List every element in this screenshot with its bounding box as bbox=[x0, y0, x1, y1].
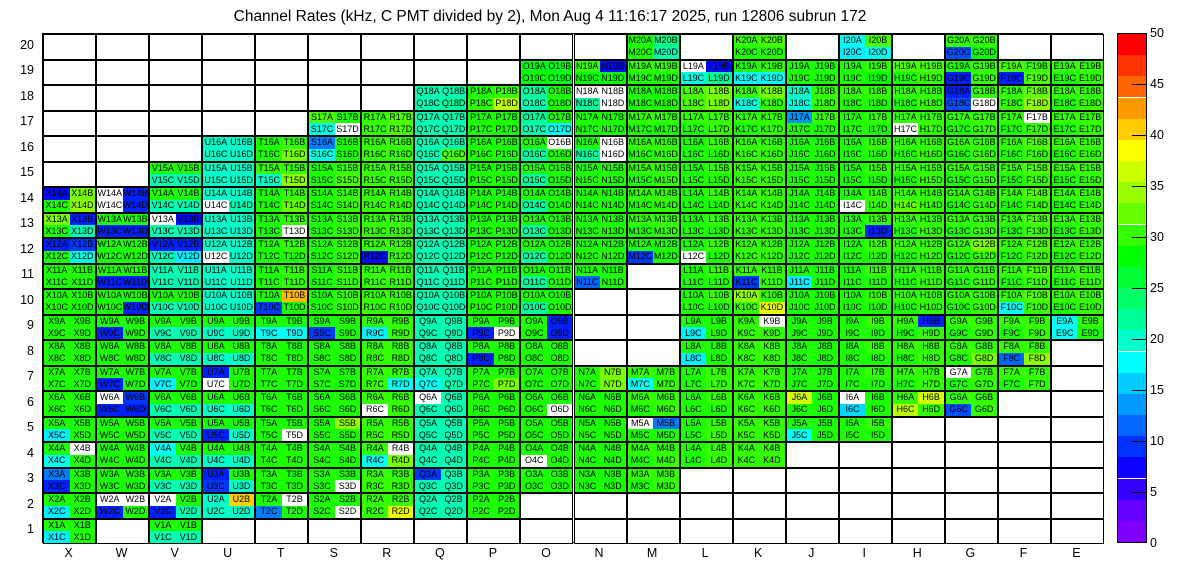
heatmap-channel-Q6D[interactable]: Q6D bbox=[441, 404, 467, 416]
heatmap-cell-Q4[interactable]: Q4AQ4BQ4CQ4D bbox=[414, 442, 467, 468]
heatmap-channel-P16B[interactable]: P16B bbox=[494, 137, 520, 149]
heatmap-cell-V15[interactable]: V15AV15BV15CV15D bbox=[149, 162, 202, 188]
heatmap-channel-Q9C[interactable]: Q9C bbox=[415, 327, 441, 339]
heatmap-cell-G20[interactable]: G20AG20BG20CG20D bbox=[945, 34, 998, 60]
heatmap-channel-W8D[interactable]: W8D bbox=[123, 353, 149, 365]
heatmap-cell-U7[interactable]: U7AU7BU7CU7D bbox=[202, 366, 255, 392]
heatmap-channel-E11D[interactable]: E11D bbox=[1077, 276, 1103, 288]
heatmap-channel-R9A[interactable]: R9A bbox=[362, 316, 388, 328]
heatmap-channel-K13B[interactable]: K13B bbox=[759, 214, 785, 226]
heatmap-channel-H16D[interactable]: H16D bbox=[918, 149, 944, 161]
heatmap-cell-P3[interactable]: P3AP3BP3CP3D bbox=[467, 468, 520, 494]
heatmap-channel-O11A[interactable]: O11A bbox=[521, 265, 547, 277]
heatmap-channel-V2B[interactable]: V2B bbox=[176, 494, 202, 506]
heatmap-channel-Q10A[interactable]: Q10A bbox=[415, 290, 441, 302]
heatmap-cell-W10[interactable]: W10AW10BW10CW10D bbox=[96, 289, 149, 315]
heatmap-cell-T4[interactable]: T4AT4BT4CT4D bbox=[255, 442, 308, 468]
heatmap-channel-P5B[interactable]: P5B bbox=[494, 418, 520, 430]
heatmap-channel-H14B[interactable]: H14B bbox=[918, 188, 944, 200]
heatmap-cell-K15[interactable]: K15AK15BK15CK15D bbox=[733, 162, 786, 188]
heatmap-channel-J13D[interactable]: J13D bbox=[812, 225, 838, 237]
heatmap-channel-I8C[interactable]: I8C bbox=[840, 353, 866, 365]
heatmap-channel-K14D[interactable]: K14D bbox=[759, 200, 785, 212]
heatmap-channel-P8D[interactable]: P8D bbox=[494, 353, 520, 365]
heatmap-channel-P3C[interactable]: P3C bbox=[468, 480, 494, 492]
heatmap-channel-I7B[interactable]: I7B bbox=[865, 367, 891, 379]
heatmap-channel-W12A[interactable]: W12A bbox=[97, 239, 123, 251]
heatmap-channel-M15B[interactable]: M15B bbox=[653, 163, 679, 175]
heatmap-channel-O17C[interactable]: O17C bbox=[521, 123, 547, 135]
heatmap-channel-O16C[interactable]: O16C bbox=[521, 149, 547, 161]
heatmap-channel-Q4C[interactable]: Q4C bbox=[415, 455, 441, 467]
heatmap-channel-V12A[interactable]: V12A bbox=[150, 239, 176, 251]
heatmap-channel-G15D[interactable]: G15D bbox=[971, 174, 997, 186]
heatmap-channel-F18B[interactable]: F18B bbox=[1024, 86, 1050, 98]
heatmap-channel-P8A[interactable]: P8A bbox=[468, 341, 494, 353]
heatmap-channel-P2D[interactable]: P2D bbox=[494, 506, 520, 518]
heatmap-cell-L19[interactable]: L19AL19BL19CL19D bbox=[680, 60, 733, 86]
heatmap-channel-F16A[interactable]: F16A bbox=[999, 137, 1025, 149]
heatmap-channel-L8D[interactable]: L8D bbox=[706, 353, 732, 365]
heatmap-channel-N14D[interactable]: N14D bbox=[600, 200, 626, 212]
heatmap-channel-H9B[interactable]: H9B bbox=[918, 316, 944, 328]
heatmap-cell-F13[interactable]: F13AF13BF13CF13D bbox=[998, 213, 1051, 239]
heatmap-channel-O10C[interactable]: O10C bbox=[521, 302, 547, 314]
heatmap-channel-V10B[interactable]: V10B bbox=[176, 290, 202, 302]
heatmap-channel-K7A[interactable]: K7A bbox=[734, 367, 760, 379]
heatmap-channel-E13D[interactable]: E13D bbox=[1077, 225, 1103, 237]
heatmap-cell-U2[interactable]: U2AU2BU2CU2D bbox=[202, 493, 255, 519]
heatmap-cell-P14[interactable]: P14AP14BP14CP14D bbox=[467, 187, 520, 213]
heatmap-channel-P13A[interactable]: P13A bbox=[468, 214, 494, 226]
heatmap-channel-N14A[interactable]: N14A bbox=[575, 188, 601, 200]
heatmap-channel-W13A[interactable]: W13A bbox=[97, 214, 123, 226]
heatmap-channel-I9B[interactable]: I9B bbox=[865, 316, 891, 328]
heatmap-channel-N14B[interactable]: N14B bbox=[600, 188, 626, 200]
heatmap-channel-T13D[interactable]: T13D bbox=[282, 225, 308, 237]
heatmap-cell-I9[interactable]: I9AI9BI9CI9D bbox=[839, 315, 892, 341]
heatmap-cell-G9[interactable]: G9AG9BG9CG9D bbox=[945, 315, 998, 341]
heatmap-channel-U2A[interactable]: U2A bbox=[203, 494, 229, 506]
heatmap-channel-S8A[interactable]: S8A bbox=[309, 341, 335, 353]
heatmap-channel-V5C[interactable]: V5C bbox=[150, 429, 176, 441]
heatmap-cell-V14[interactable]: V14AV14BV14CV14D bbox=[149, 187, 202, 213]
heatmap-channel-V4B[interactable]: V4B bbox=[176, 443, 202, 455]
heatmap-channel-R13D[interactable]: R13D bbox=[388, 225, 414, 237]
heatmap-channel-K7B[interactable]: K7B bbox=[759, 367, 785, 379]
heatmap-cell-E12[interactable]: E12AE12BE12CE12D bbox=[1051, 238, 1104, 264]
heatmap-channel-U14A[interactable]: U14A bbox=[203, 188, 229, 200]
heatmap-channel-V14D[interactable]: V14D bbox=[176, 200, 202, 212]
heatmap-channel-P10C[interactable]: P10C bbox=[468, 302, 494, 314]
heatmap-channel-N17A[interactable]: N17A bbox=[575, 112, 601, 124]
heatmap-channel-M13B[interactable]: M13B bbox=[653, 214, 679, 226]
heatmap-channel-L12B[interactable]: L12B bbox=[706, 239, 732, 251]
heatmap-channel-H16A[interactable]: H16A bbox=[893, 137, 919, 149]
heatmap-channel-I14C[interactable]: I14C bbox=[840, 200, 866, 212]
heatmap-cell-J9[interactable]: J9AJ9BJ9CJ9D bbox=[786, 315, 839, 341]
heatmap-channel-G9C[interactable]: G9C bbox=[946, 327, 972, 339]
heatmap-channel-L18D[interactable]: L18D bbox=[706, 98, 732, 110]
heatmap-channel-J6B[interactable]: J6B bbox=[812, 392, 838, 404]
heatmap-channel-K8D[interactable]: K8D bbox=[759, 353, 785, 365]
heatmap-channel-M15A[interactable]: M15A bbox=[628, 163, 654, 175]
heatmap-channel-H10B[interactable]: H10B bbox=[918, 290, 944, 302]
heatmap-channel-R14D[interactable]: R14D bbox=[388, 200, 414, 212]
heatmap-cell-S14[interactable]: S14AS14BS14CS14D bbox=[308, 187, 361, 213]
heatmap-cell-P8[interactable]: P8AP8BP8CP8D bbox=[467, 340, 520, 366]
heatmap-cell-V7[interactable]: V7AV7BV7CV7D bbox=[149, 366, 202, 392]
heatmap-channel-F13A[interactable]: F13A bbox=[999, 214, 1025, 226]
heatmap-channel-R6D[interactable]: R6D bbox=[388, 404, 414, 416]
heatmap-channel-W8A[interactable]: W8A bbox=[97, 341, 123, 353]
heatmap-channel-K20B[interactable]: K20B bbox=[759, 35, 785, 47]
heatmap-channel-Q17D[interactable]: Q17D bbox=[441, 123, 467, 135]
heatmap-cell-T12[interactable]: T12AT12BT12CT12D bbox=[255, 238, 308, 264]
heatmap-channel-J9A[interactable]: J9A bbox=[787, 316, 813, 328]
heatmap-channel-E12A[interactable]: E12A bbox=[1052, 239, 1078, 251]
heatmap-channel-T14A[interactable]: T14A bbox=[256, 188, 282, 200]
heatmap-channel-J17B[interactable]: J17B bbox=[812, 112, 838, 124]
heatmap-channel-W12D[interactable]: W12D bbox=[123, 251, 149, 263]
heatmap-channel-F11B[interactable]: F11B bbox=[1024, 265, 1050, 277]
heatmap-channel-V4C[interactable]: V4C bbox=[150, 455, 176, 467]
heatmap-channel-O17B[interactable]: O17B bbox=[547, 112, 573, 124]
heatmap-channel-X3B[interactable]: X3B bbox=[70, 469, 96, 481]
heatmap-channel-J7D[interactable]: J7D bbox=[812, 378, 838, 390]
heatmap-channel-P9C[interactable]: P9C bbox=[468, 327, 494, 339]
heatmap-channel-M17D[interactable]: M17D bbox=[653, 123, 679, 135]
heatmap-channel-S15C[interactable]: S15C bbox=[309, 174, 335, 186]
heatmap-channel-Q16A[interactable]: Q16A bbox=[415, 137, 441, 149]
heatmap-channel-L6D[interactable]: L6D bbox=[706, 404, 732, 416]
heatmap-cell-R5[interactable]: R5AR5BR5CR5D bbox=[361, 417, 414, 443]
heatmap-channel-T15B[interactable]: T15B bbox=[282, 163, 308, 175]
heatmap-channel-L7C[interactable]: L7C bbox=[681, 378, 707, 390]
heatmap-channel-H18C[interactable]: H18C bbox=[893, 98, 919, 110]
heatmap-channel-T5D[interactable]: T5D bbox=[282, 429, 308, 441]
heatmap-channel-T13A[interactable]: T13A bbox=[256, 214, 282, 226]
heatmap-cell-Q18[interactable]: Q18AQ18BQ18CQ18D bbox=[414, 85, 467, 111]
heatmap-channel-F15C[interactable]: F15C bbox=[999, 174, 1025, 186]
heatmap-channel-H16B[interactable]: H16B bbox=[918, 137, 944, 149]
heatmap-channel-W7C[interactable]: W7C bbox=[97, 378, 123, 390]
heatmap-channel-O13A[interactable]: O13A bbox=[521, 214, 547, 226]
heatmap-channel-M3B[interactable]: M3B bbox=[653, 469, 679, 481]
heatmap-channel-J12B[interactable]: J12B bbox=[812, 239, 838, 251]
heatmap-channel-W14D[interactable]: W14D bbox=[123, 200, 149, 212]
heatmap-channel-L4A[interactable]: L4A bbox=[681, 443, 707, 455]
heatmap-channel-R14B[interactable]: R14B bbox=[388, 188, 414, 200]
heatmap-channel-K9B[interactable]: K9B bbox=[759, 316, 785, 328]
heatmap-channel-K5B[interactable]: K5B bbox=[759, 418, 785, 430]
heatmap-channel-G7D[interactable]: G7D bbox=[971, 378, 997, 390]
heatmap-channel-S5A[interactable]: S5A bbox=[309, 418, 335, 430]
heatmap-channel-H7B[interactable]: H7B bbox=[918, 367, 944, 379]
heatmap-cell-L15[interactable]: L15AL15BL15CL15D bbox=[680, 162, 733, 188]
heatmap-channel-N18D[interactable]: N18D bbox=[600, 98, 626, 110]
heatmap-cell-N3[interactable]: N3AN3BN3CN3D bbox=[574, 468, 627, 494]
heatmap-cell-U3[interactable]: U3AU3BU3CU3D bbox=[202, 468, 255, 494]
heatmap-channel-M14B[interactable]: M14B bbox=[653, 188, 679, 200]
heatmap-channel-S8B[interactable]: S8B bbox=[335, 341, 361, 353]
heatmap-channel-H19D[interactable]: H19D bbox=[918, 72, 944, 84]
heatmap-channel-Q4D[interactable]: Q4D bbox=[441, 455, 467, 467]
heatmap-channel-G17B[interactable]: G17B bbox=[971, 112, 997, 124]
heatmap-channel-M16D[interactable]: M16D bbox=[653, 149, 679, 161]
heatmap-channel-K6D[interactable]: K6D bbox=[759, 404, 785, 416]
heatmap-channel-I12C[interactable]: I12C bbox=[840, 251, 866, 263]
heatmap-channel-L19B[interactable]: L19B bbox=[706, 61, 732, 73]
heatmap-channel-I12A[interactable]: I12A bbox=[840, 239, 866, 251]
heatmap-channel-O16A[interactable]: O16A bbox=[521, 137, 547, 149]
heatmap-channel-K17B[interactable]: K17B bbox=[759, 112, 785, 124]
heatmap-channel-O6A[interactable]: O6A bbox=[521, 392, 547, 404]
heatmap-channel-R12B[interactable]: R12B bbox=[388, 239, 414, 251]
heatmap-channel-J18C[interactable]: J18C bbox=[787, 98, 813, 110]
heatmap-channel-Q3A[interactable]: Q3A bbox=[415, 469, 441, 481]
heatmap-channel-T4D[interactable]: T4D bbox=[282, 455, 308, 467]
heatmap-channel-T14D[interactable]: T14D bbox=[282, 200, 308, 212]
heatmap-channel-T7B[interactable]: T7B bbox=[282, 367, 308, 379]
heatmap-channel-N17B[interactable]: N17B bbox=[600, 112, 626, 124]
heatmap-channel-S9A[interactable]: S9A bbox=[309, 316, 335, 328]
heatmap-cell-I17[interactable]: I17AI17BI17CI17D bbox=[839, 111, 892, 137]
heatmap-channel-G7B[interactable]: G7B bbox=[971, 367, 997, 379]
heatmap-cell-W7[interactable]: W7AW7BW7CW7D bbox=[96, 366, 149, 392]
heatmap-channel-V1C[interactable]: V1C bbox=[150, 531, 176, 543]
heatmap-channel-R5A[interactable]: R5A bbox=[362, 418, 388, 430]
heatmap-channel-O10D[interactable]: O10D bbox=[547, 302, 573, 314]
heatmap-channel-S15D[interactable]: S15D bbox=[335, 174, 361, 186]
heatmap-channel-O11C[interactable]: O11C bbox=[521, 276, 547, 288]
heatmap-channel-K19D[interactable]: K19D bbox=[759, 72, 785, 84]
heatmap-channel-J16C[interactable]: J16C bbox=[787, 149, 813, 161]
heatmap-channel-O15B[interactable]: O15B bbox=[547, 163, 573, 175]
heatmap-channel-N7D[interactable]: N7D bbox=[600, 378, 626, 390]
heatmap-channel-N15C[interactable]: N15C bbox=[575, 174, 601, 186]
heatmap-cell-N12[interactable]: N12AN12BN12CN12D bbox=[574, 238, 627, 264]
heatmap-channel-Q14D[interactable]: Q14D bbox=[441, 200, 467, 212]
heatmap-cell-O4[interactable]: O4AO4BO4CO4D bbox=[520, 442, 573, 468]
heatmap-channel-K12B[interactable]: K12B bbox=[759, 239, 785, 251]
heatmap-channel-Q15B[interactable]: Q15B bbox=[441, 163, 467, 175]
heatmap-channel-X2C[interactable]: X2C bbox=[44, 506, 70, 518]
heatmap-channel-J16A[interactable]: J16A bbox=[787, 137, 813, 149]
heatmap-channel-P17B[interactable]: P17B bbox=[494, 112, 520, 124]
heatmap-channel-T9B[interactable]: T9B bbox=[282, 316, 308, 328]
heatmap-channel-L7A[interactable]: L7A bbox=[681, 367, 707, 379]
heatmap-channel-P7C[interactable]: P7C bbox=[468, 378, 494, 390]
heatmap-channel-G20B[interactable]: G20B bbox=[971, 35, 997, 47]
heatmap-cell-H18[interactable]: H18AH18BH18CH18D bbox=[892, 85, 945, 111]
heatmap-cell-L11[interactable]: L11AL11BL11CL11D bbox=[680, 264, 733, 290]
heatmap-channel-M4C[interactable]: M4C bbox=[628, 455, 654, 467]
heatmap-cell-I18[interactable]: I18AI18BI18CI18D bbox=[839, 85, 892, 111]
heatmap-channel-U9C[interactable]: U9C bbox=[203, 327, 229, 339]
heatmap-channel-S10B[interactable]: S10B bbox=[335, 290, 361, 302]
heatmap-channel-Q3C[interactable]: Q3C bbox=[415, 480, 441, 492]
heatmap-channel-L14C[interactable]: L14C bbox=[681, 200, 707, 212]
heatmap-channel-U8C[interactable]: U8C bbox=[203, 353, 229, 365]
heatmap-channel-K4B[interactable]: K4B bbox=[759, 443, 785, 455]
heatmap-channel-S3D[interactable]: S3D bbox=[335, 480, 361, 492]
heatmap-channel-R3D[interactable]: R3D bbox=[388, 480, 414, 492]
heatmap-channel-P12A[interactable]: P12A bbox=[468, 239, 494, 251]
heatmap-cell-X13[interactable]: X13AX13BX13CX13D bbox=[43, 213, 96, 239]
heatmap-channel-O8B[interactable]: O8B bbox=[547, 341, 573, 353]
heatmap-channel-H14C[interactable]: H14C bbox=[893, 200, 919, 212]
heatmap-cell-V3[interactable]: V3AV3BV3CV3D bbox=[149, 468, 202, 494]
heatmap-channel-Q14B[interactable]: Q14B bbox=[441, 188, 467, 200]
heatmap-channel-X5D[interactable]: X5D bbox=[70, 429, 96, 441]
heatmap-channel-U6D[interactable]: U6D bbox=[229, 404, 255, 416]
heatmap-channel-L4D[interactable]: L4D bbox=[706, 455, 732, 467]
heatmap-channel-V7D[interactable]: V7D bbox=[176, 378, 202, 390]
heatmap-cell-L4[interactable]: L4AL4BL4CL4D bbox=[680, 442, 733, 468]
heatmap-channel-W6C[interactable]: W6C bbox=[97, 404, 123, 416]
heatmap-cell-G8[interactable]: G8AG8BG8CG8D bbox=[945, 340, 998, 366]
heatmap-channel-M15D[interactable]: M15D bbox=[653, 174, 679, 186]
heatmap-channel-I10C[interactable]: I10C bbox=[840, 302, 866, 314]
heatmap-channel-X4A[interactable]: X4A bbox=[44, 443, 70, 455]
heatmap-channel-N19A[interactable]: N19A bbox=[575, 61, 601, 73]
heatmap-channel-K18C[interactable]: K18C bbox=[734, 98, 760, 110]
heatmap-channel-F13D[interactable]: F13D bbox=[1024, 225, 1050, 237]
heatmap-channel-J18A[interactable]: J18A bbox=[787, 86, 813, 98]
heatmap-channel-L10B[interactable]: L10B bbox=[706, 290, 732, 302]
heatmap-cell-X8[interactable]: X8AX8BX8CX8D bbox=[43, 340, 96, 366]
heatmap-channel-Q16B[interactable]: Q16B bbox=[441, 137, 467, 149]
heatmap-channel-N19B[interactable]: N19B bbox=[600, 61, 626, 73]
heatmap-channel-K14C[interactable]: K14C bbox=[734, 200, 760, 212]
heatmap-channel-V3B[interactable]: V3B bbox=[176, 469, 202, 481]
heatmap-cell-E14[interactable]: E14AE14BE14CE14D bbox=[1051, 187, 1104, 213]
heatmap-channel-T2D[interactable]: T2D bbox=[282, 506, 308, 518]
heatmap-channel-U10A[interactable]: U10A bbox=[203, 290, 229, 302]
heatmap-channel-O17D[interactable]: O17D bbox=[547, 123, 573, 135]
heatmap-channel-W3A[interactable]: W3A bbox=[97, 469, 123, 481]
heatmap-channel-U2D[interactable]: U2D bbox=[229, 506, 255, 518]
heatmap-channel-H18B[interactable]: H18B bbox=[918, 86, 944, 98]
heatmap-cell-R15[interactable]: R15AR15BR15CR15D bbox=[361, 162, 414, 188]
heatmap-channel-M20B[interactable]: M20B bbox=[653, 35, 679, 47]
heatmap-cell-M16[interactable]: M16AM16BM16CM16D bbox=[627, 136, 680, 162]
heatmap-cell-R8[interactable]: R8AR8BR8CR8D bbox=[361, 340, 414, 366]
heatmap-channel-X3C[interactable]: X3C bbox=[44, 480, 70, 492]
heatmap-channel-X5A[interactable]: X5A bbox=[44, 418, 70, 430]
heatmap-channel-I6C[interactable]: I6C bbox=[840, 404, 866, 416]
heatmap-cell-H19[interactable]: H19AH19BH19CH19D bbox=[892, 60, 945, 86]
heatmap-channel-P7B[interactable]: P7B bbox=[494, 367, 520, 379]
heatmap-channel-G10B[interactable]: G10B bbox=[971, 290, 997, 302]
heatmap-channel-L13C[interactable]: L13C bbox=[681, 225, 707, 237]
heatmap-channel-E18D[interactable]: E18D bbox=[1077, 98, 1103, 110]
heatmap-channel-N18C[interactable]: N18C bbox=[575, 98, 601, 110]
heatmap-channel-R8B[interactable]: R8B bbox=[388, 341, 414, 353]
heatmap-channel-J19D[interactable]: J19D bbox=[812, 72, 838, 84]
heatmap-channel-R15B[interactable]: R15B bbox=[388, 163, 414, 175]
heatmap-channel-R2C[interactable]: R2C bbox=[362, 506, 388, 518]
heatmap-cell-N5[interactable]: N5AN5BN5CN5D bbox=[574, 417, 627, 443]
heatmap-channel-F19D[interactable]: F19D bbox=[1024, 72, 1050, 84]
heatmap-cell-O18[interactable]: O18AO18BO18CO18D bbox=[520, 85, 573, 111]
heatmap-channel-K4C[interactable]: K4C bbox=[734, 455, 760, 467]
heatmap-channel-R7A[interactable]: R7A bbox=[362, 367, 388, 379]
heatmap-cell-P6[interactable]: P6AP6BP6CP6D bbox=[467, 391, 520, 417]
heatmap-channel-M14A[interactable]: M14A bbox=[628, 188, 654, 200]
heatmap-channel-M18D[interactable]: M18D bbox=[653, 98, 679, 110]
heatmap-channel-K14B[interactable]: K14B bbox=[759, 188, 785, 200]
heatmap-channel-N16D[interactable]: N16D bbox=[600, 149, 626, 161]
heatmap-channel-J6D[interactable]: J6D bbox=[812, 404, 838, 416]
heatmap-cell-O15[interactable]: O15AO15BO15CO15D bbox=[520, 162, 573, 188]
heatmap-channel-T3D[interactable]: T3D bbox=[282, 480, 308, 492]
heatmap-channel-J10A[interactable]: J10A bbox=[787, 290, 813, 302]
heatmap-channel-J14C[interactable]: J14C bbox=[787, 200, 813, 212]
heatmap-channel-X12C[interactable]: X12C bbox=[44, 251, 70, 263]
heatmap-cell-K18[interactable]: K18AK18BK18CK18D bbox=[733, 85, 786, 111]
heatmap-channel-S15B[interactable]: S15B bbox=[335, 163, 361, 175]
heatmap-channel-V5D[interactable]: V5D bbox=[176, 429, 202, 441]
heatmap-channel-U6C[interactable]: U6C bbox=[203, 404, 229, 416]
heatmap-channel-U14D[interactable]: U14D bbox=[229, 200, 255, 212]
heatmap-channel-I14A[interactable]: I14A bbox=[840, 188, 866, 200]
heatmap-channel-U3C[interactable]: U3C bbox=[203, 480, 229, 492]
heatmap-cell-I6[interactable]: I6AI6BI6CI6D bbox=[839, 391, 892, 417]
heatmap-channel-V2A[interactable]: V2A bbox=[150, 494, 176, 506]
heatmap-channel-N6D[interactable]: N6D bbox=[600, 404, 626, 416]
heatmap-channel-L6C[interactable]: L6C bbox=[681, 404, 707, 416]
heatmap-channel-U16C[interactable]: U16C bbox=[203, 149, 229, 161]
heatmap-channel-I19C[interactable]: I19C bbox=[840, 72, 866, 84]
heatmap-channel-G11B[interactable]: G11B bbox=[971, 265, 997, 277]
heatmap-channel-I15D[interactable]: I15D bbox=[865, 174, 891, 186]
heatmap-channel-X14A[interactable]: X14A bbox=[44, 188, 70, 200]
heatmap-channel-M15C[interactable]: M15C bbox=[628, 174, 654, 186]
heatmap-channel-E14C[interactable]: E14C bbox=[1052, 200, 1078, 212]
heatmap-channel-F15A[interactable]: F15A bbox=[999, 163, 1025, 175]
heatmap-channel-I16C[interactable]: I16C bbox=[840, 149, 866, 161]
heatmap-cell-M14[interactable]: M14AM14BM14CM14D bbox=[627, 187, 680, 213]
heatmap-channel-O5D[interactable]: O5D bbox=[547, 429, 573, 441]
heatmap-cell-K19[interactable]: K19AK19BK19CK19D bbox=[733, 60, 786, 86]
heatmap-channel-S9B[interactable]: S9B bbox=[335, 316, 361, 328]
heatmap-channel-N3D[interactable]: N3D bbox=[600, 480, 626, 492]
heatmap-channel-P5A[interactable]: P5A bbox=[468, 418, 494, 430]
heatmap-channel-G14A[interactable]: G14A bbox=[946, 188, 972, 200]
heatmap-channel-O13B[interactable]: O13B bbox=[547, 214, 573, 226]
heatmap-cell-H11[interactable]: H11AH11BH11CH11D bbox=[892, 264, 945, 290]
heatmap-channel-G9D[interactable]: G9D bbox=[971, 327, 997, 339]
heatmap-channel-V10A[interactable]: V10A bbox=[150, 290, 176, 302]
heatmap-channel-F15B[interactable]: F15B bbox=[1024, 163, 1050, 175]
heatmap-channel-T16B[interactable]: T16B bbox=[282, 137, 308, 149]
heatmap-channel-I19B[interactable]: I19B bbox=[865, 61, 891, 73]
heatmap-cell-K11[interactable]: K11AK11BK11CK11D bbox=[733, 264, 786, 290]
heatmap-channel-Q15C[interactable]: Q15C bbox=[415, 174, 441, 186]
heatmap-cell-G15[interactable]: G15AG15BG15CG15D bbox=[945, 162, 998, 188]
heatmap-channel-K19A[interactable]: K19A bbox=[734, 61, 760, 73]
heatmap-channel-J19C[interactable]: J19C bbox=[787, 72, 813, 84]
heatmap-channel-O13D[interactable]: O13D bbox=[547, 225, 573, 237]
heatmap-cell-V11[interactable]: V11AV11BV11CV11D bbox=[149, 264, 202, 290]
heatmap-channel-H6D[interactable]: H6D bbox=[918, 404, 944, 416]
heatmap-channel-H12B[interactable]: H12B bbox=[918, 239, 944, 251]
heatmap-channel-O13C[interactable]: O13C bbox=[521, 225, 547, 237]
heatmap-cell-S7[interactable]: S7AS7BS7CS7D bbox=[308, 366, 361, 392]
heatmap-channel-H15C[interactable]: H15C bbox=[893, 174, 919, 186]
